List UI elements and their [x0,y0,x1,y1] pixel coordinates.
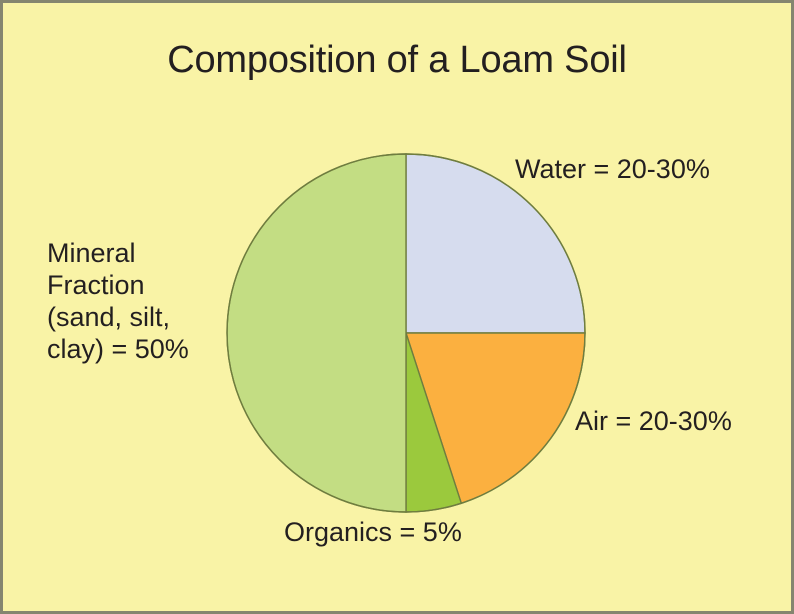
pie-label-mineral-line-4: clay) = 50% [47,333,262,365]
pie-label-air: Air = 20-30% [575,405,732,437]
pie-label-mineral-line-3: (sand, silt, [47,301,262,333]
pie-label-water: Water = 20-30% [515,153,710,185]
figure-canvas: Composition of a Loam Soil Water = 20-30… [0,0,794,614]
chart-title: Composition of a Loam Soil [3,39,791,82]
pie-label-organics: Organics = 5% [284,516,462,548]
pie-label-mineral-line-1: Mineral [47,237,262,269]
pie-label-mineral-fraction: Mineral Fraction (sand, silt, clay) = 50… [47,237,262,365]
pie-chart [218,143,598,523]
pie-label-mineral-line-2: Fraction [47,269,262,301]
